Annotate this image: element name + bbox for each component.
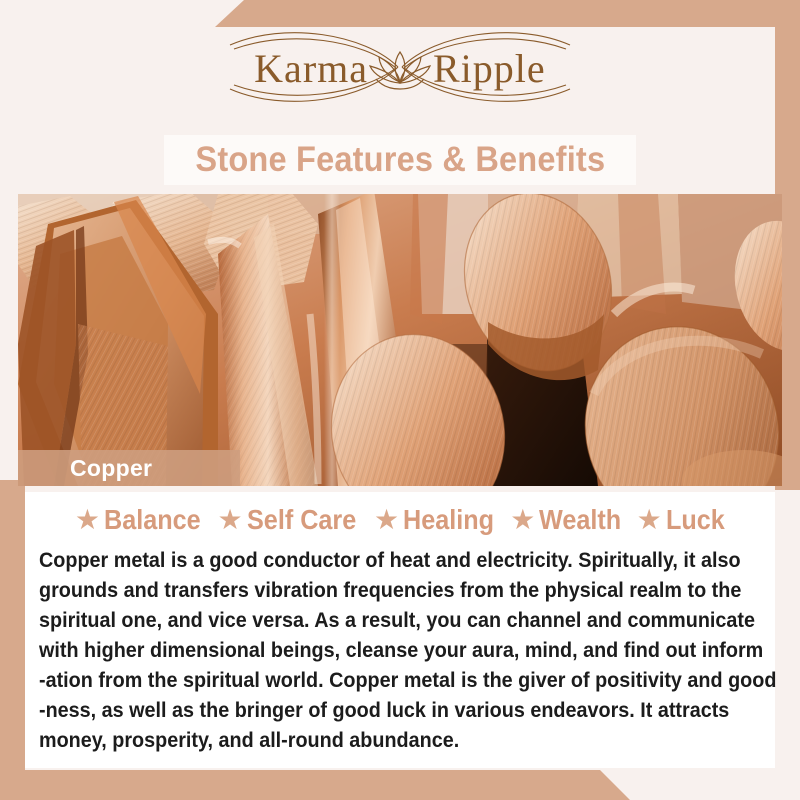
- star-icon: ★: [637, 506, 662, 534]
- brand-name-left: Karma: [254, 46, 368, 91]
- description-line: grounds and transfers vibration frequenc…: [39, 575, 784, 605]
- description-text: Copper metal is a good conductor of heat…: [39, 545, 784, 755]
- benefit-label: Self Care: [247, 504, 356, 536]
- description-line: -ness, as well as the bringer of good lu…: [39, 695, 784, 725]
- copper-photo-art: [18, 194, 782, 486]
- description-line: with higher dimensional beings, cleanse …: [39, 635, 784, 665]
- star-icon: ★: [217, 506, 242, 534]
- star-icon: ★: [75, 506, 100, 534]
- frame-band-left: [0, 480, 25, 800]
- benefit-item: ★ Healing: [368, 504, 504, 536]
- benefit-item: ★ Self Care: [211, 504, 368, 536]
- description-line: Copper metal is a good conductor of heat…: [39, 545, 784, 575]
- title-banner: Stone Features & Benefits: [164, 135, 636, 185]
- star-icon: ★: [374, 506, 399, 534]
- frame-band-bottom: [0, 770, 630, 800]
- lotus-icon: [370, 52, 430, 89]
- benefit-label: Luck: [666, 504, 725, 536]
- benefit-item: ★ Luck: [631, 504, 731, 536]
- benefits-list: ★ Balance ★ Self Care ★ Healing ★ Wealth…: [25, 492, 775, 536]
- photo-caption-text: Copper: [70, 455, 152, 482]
- copper-bars-photo: [18, 194, 782, 486]
- benefit-item: ★ Balance: [69, 504, 212, 536]
- content-card: ★ Balance ★ Self Care ★ Healing ★ Wealth…: [25, 492, 775, 768]
- poster-root: Karma Ripple Stone Features & Benefits: [0, 0, 800, 800]
- page-title: Stone Features & Benefits: [195, 140, 605, 180]
- photo-caption: Copper: [18, 450, 240, 486]
- benefit-label: Wealth: [539, 504, 621, 536]
- description-line: money, prosperity, and all-round abundan…: [39, 725, 784, 755]
- star-icon: ★: [510, 506, 535, 534]
- brand-logo-svg: Karma Ripple: [190, 26, 610, 108]
- description-line: spiritual one, and vice versa. As a resu…: [39, 605, 784, 635]
- benefit-label: Balance: [104, 504, 201, 536]
- header: Karma Ripple: [0, 0, 800, 133]
- brand-name-right: Ripple: [433, 46, 546, 91]
- benefit-item: ★ Wealth: [504, 504, 630, 536]
- benefit-label: Healing: [403, 504, 494, 536]
- description-line: -ation from the spiritual world. Copper …: [39, 665, 784, 695]
- brand-logo: Karma Ripple: [0, 26, 800, 108]
